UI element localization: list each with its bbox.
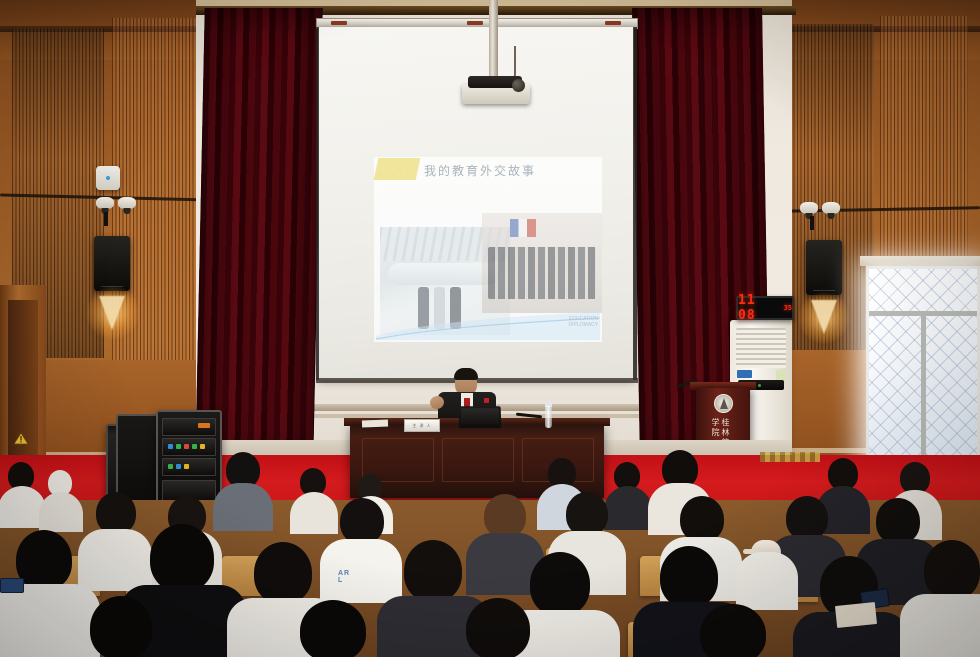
rack-led-row-2 [168, 464, 189, 469]
slide-footer-line2: DIPLOMACY [524, 322, 598, 328]
ac-brand-sticker [737, 370, 752, 378]
slide-group-row [488, 247, 596, 299]
pa-speaker-left [94, 236, 130, 291]
wall-sconce-right [811, 300, 837, 334]
projector-lens-icon [512, 79, 525, 92]
water-bottle [545, 406, 552, 428]
clock-hours-minutes: 11 08 [738, 293, 782, 323]
speaker-glasses-icon [456, 379, 476, 384]
pa-speaker-right [806, 240, 842, 295]
led-wall-clock: 11 08 35 [736, 296, 794, 320]
lecture-hall-photo: · · · 我的教育外交故事 EDUCATION DIPLOMACY [0, 0, 980, 657]
rack-unit-mixer [162, 438, 216, 456]
presenter-laptop[interactable] [459, 406, 502, 428]
rack-unit-amplifier [162, 418, 216, 436]
slide-title: 我的教育外交故事 [424, 162, 584, 180]
window-header-trim [860, 256, 980, 266]
stage-decor-strip [760, 452, 820, 462]
track-light-right-b [822, 202, 840, 214]
table-panel-2 [442, 438, 514, 482]
rack-led-row-1 [168, 444, 205, 449]
slide-photo-right [482, 213, 602, 313]
track-light-left-b [118, 197, 136, 209]
audience-notebook [835, 602, 877, 628]
french-flag-icon [510, 219, 536, 237]
warning-sign-icon [13, 432, 29, 445]
ac-vent-grille [736, 328, 786, 368]
table-papers [362, 420, 388, 428]
stage-curtain-left [195, 8, 322, 460]
speaker-bracket-right [810, 216, 814, 230]
clock-seconds: 35 [784, 304, 792, 312]
university-emblem-icon [714, 394, 733, 413]
presenter-nameplate: 主 讲 人 [404, 419, 440, 432]
track-light-right-a [800, 202, 818, 214]
window-mullion-vertical [921, 311, 926, 465]
slide-footer: EDUCATION DIPLOMACY [524, 316, 598, 330]
wifi-access-point-icon [96, 166, 120, 190]
wall-sconce-left [99, 296, 125, 330]
lattice-window [866, 266, 980, 468]
rack-amber-indicator [198, 423, 210, 428]
screen-edge-right [633, 27, 637, 380]
speaker-bracket-left [104, 212, 108, 226]
shirt-print-text: AR L [338, 570, 350, 584]
acoustic-panel-right-outer [880, 16, 968, 266]
laptop-screen [461, 408, 499, 424]
slide-accent-dots: · · · [382, 166, 416, 174]
audio-equipment-rack [156, 410, 222, 510]
screen-edge-left [316, 27, 319, 380]
audience-phone-screen[interactable] [0, 578, 24, 593]
window-glass [869, 269, 977, 465]
track-light-left-a [96, 197, 114, 209]
speaker-lapel-pin [484, 398, 489, 403]
rack-unit-processor [162, 458, 216, 476]
